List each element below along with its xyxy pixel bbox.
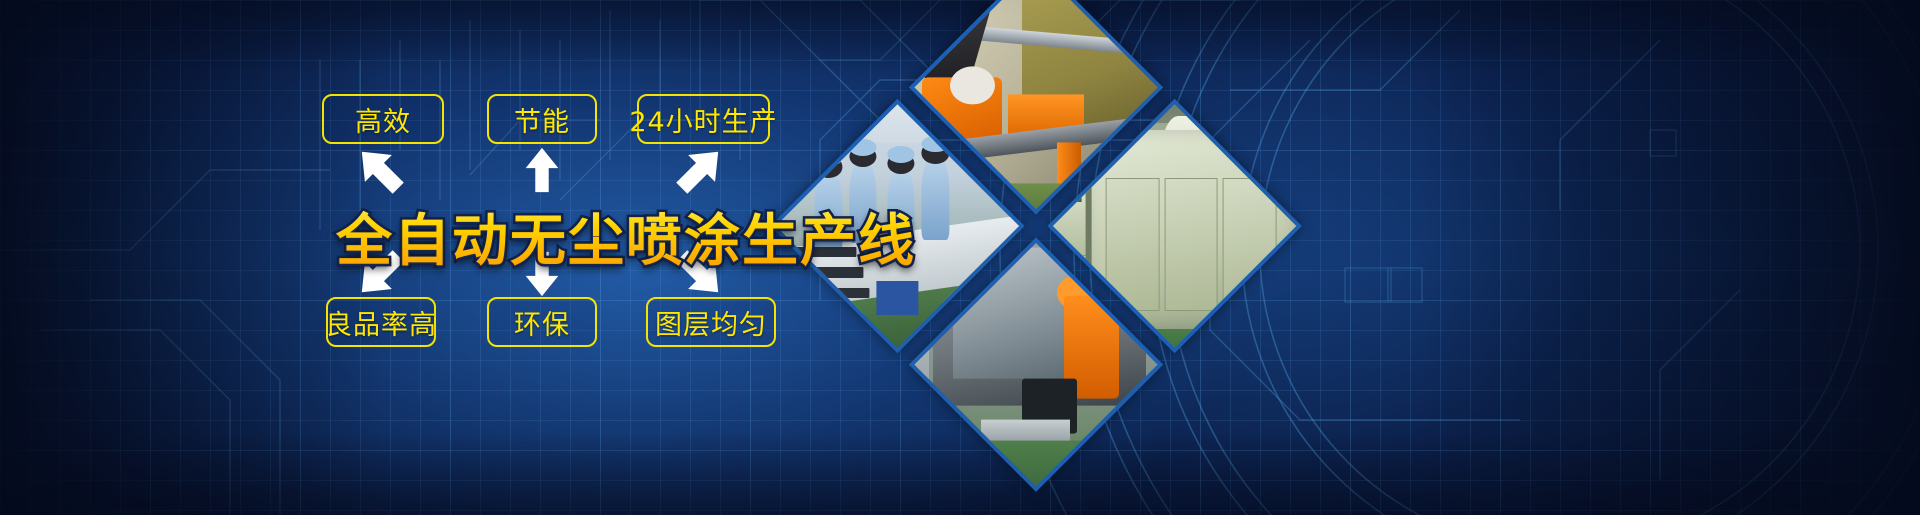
feature-pill-uniform-coating[interactable]: 图层均匀 [646,297,776,347]
feature-pill-efficient[interactable]: 高效 [322,94,444,144]
page-title: 全自动无尘喷涂生产线 [336,196,916,277]
promo-banner: 高效 节能 24小时生产 良品率高 环保 图层均匀 [0,0,1920,515]
arrow-up-left-icon [352,142,408,198]
arrow-up-icon [518,142,566,198]
feature-pill-eco-friendly[interactable]: 环保 [487,297,597,347]
feature-pill-energy-saving[interactable]: 节能 [487,94,597,144]
feature-pill-24h-production[interactable]: 24小时生产 [637,94,770,144]
feature-cluster: 高效 节能 24小时生产 良品率高 环保 图层均匀 [0,0,1000,515]
feature-pill-high-yield[interactable]: 良品率高 [326,297,436,347]
arrow-up-right-icon [672,142,728,198]
